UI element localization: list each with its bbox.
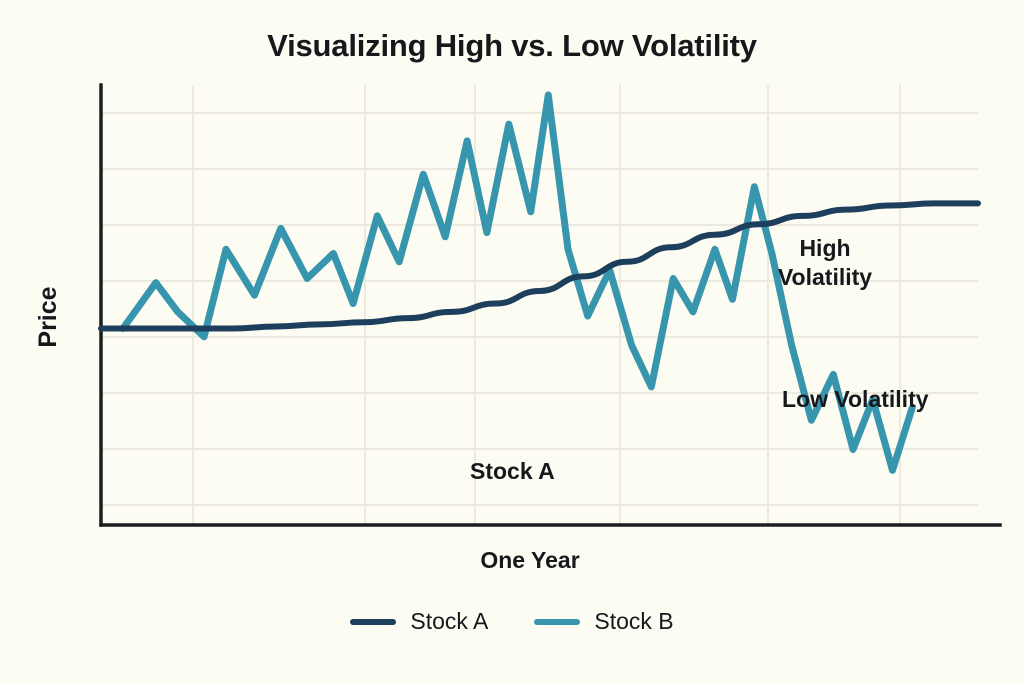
legend-label-stock-a: Stock A — [410, 608, 488, 635]
annotation-high-volatility: High Volatility — [760, 234, 890, 293]
x-axis-label: One Year — [400, 547, 660, 574]
legend-swatch-stock-a — [350, 619, 396, 625]
legend-item-stock-a[interactable]: Stock A — [350, 608, 488, 635]
chart-legend: Stock A Stock B — [0, 608, 1024, 635]
legend-label-stock-b: Stock B — [594, 608, 673, 635]
annotation-stock-a: Stock A — [470, 457, 555, 486]
annotation-high-volatility-line2: Volatility — [760, 263, 890, 292]
legend-swatch-stock-b — [534, 619, 580, 625]
chart-plot-area: .gl { stroke: #eceadf; stroke-width: 2; … — [0, 0, 1024, 683]
annotation-high-volatility-line1: High — [760, 234, 890, 263]
legend-item-stock-b[interactable]: Stock B — [534, 608, 673, 635]
y-axis-label: Price — [34, 262, 63, 372]
chart-figure: Visualizing High vs. Low Volatility .gl — [0, 0, 1024, 683]
annotation-low-volatility: Low Volatility — [782, 385, 929, 414]
